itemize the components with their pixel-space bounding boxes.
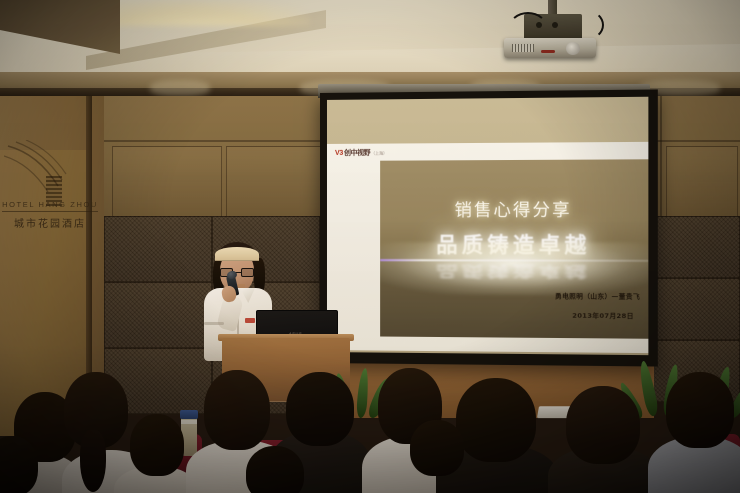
bottle-cap [180, 410, 198, 419]
audience-head [666, 372, 734, 448]
audience-head [456, 378, 536, 462]
wood-panel-inset [666, 146, 738, 218]
audience-head [286, 372, 354, 446]
glasses-lens [241, 268, 254, 277]
audience-head [410, 420, 464, 476]
projector-cable [570, 10, 604, 40]
powerpoint-canvas: V3 创中视野 （上海） 销售心得分享 品质铸造卓越 品质铸造卓越 勇电照明（山… [327, 142, 648, 353]
slide-subtitle-reflection: 品质铸造卓越 [380, 260, 648, 282]
audience-head [246, 446, 304, 493]
hotel-sign-rule [2, 211, 98, 212]
audience-head [204, 370, 270, 450]
hotel-sign-english: HOTEL HANG ZHOU [2, 200, 98, 209]
slide-title: 销售心得分享 [380, 195, 648, 221]
projector-lens-icon [566, 42, 580, 55]
slide-date: 2013年07月28日 [572, 310, 633, 321]
wood-panel-inset [112, 146, 222, 218]
projector-red-cable [541, 50, 555, 53]
slide-corner-logo: V3 创中视野 （上海） [335, 148, 387, 158]
slide-byline: 勇电照明（山东）—董贵飞 [555, 290, 640, 301]
hotel-logo-swoosh-icon [4, 140, 80, 202]
projection-screen: V3 创中视野 （上海） 销售心得分享 品质铸造卓越 品质铸造卓越 勇电照明（山… [320, 89, 658, 366]
logo-v3-mark: V3 [335, 150, 343, 157]
beam-stain [150, 80, 210, 96]
bottle-label-band [181, 420, 197, 424]
shirt-sleeve-edge [204, 322, 224, 325]
conference-room-photo: HOTEL HANG ZHOU 城市花园酒店 V3 创中视野 （上海） 销 [0, 0, 740, 493]
bracket-hole [552, 22, 558, 28]
audience-head [130, 414, 184, 476]
presenter-headband [215, 247, 259, 261]
wood-panel-seam [660, 96, 662, 218]
shirt-company-logo [245, 318, 255, 323]
logo-company-name: 创中视野 [344, 148, 370, 158]
logo-region: （上海） [371, 151, 387, 157]
screen-surface: V3 创中视野 （上海） 销售心得分享 品质铸造卓越 品质铸造卓越 勇电照明（山… [327, 97, 648, 355]
audience-head [566, 386, 640, 464]
audience-ponytail [80, 430, 106, 492]
hotel-sign-chinese: 城市花园酒店 [2, 215, 98, 230]
projector-vent [512, 44, 534, 52]
slide-photo-background: 销售心得分享 品质铸造卓越 品质铸造卓越 勇电照明（山东）—董贵飞 2013年0… [380, 159, 648, 338]
acoustic-panel [652, 278, 740, 340]
acoustic-panel [652, 216, 740, 278]
hotel-sign: HOTEL HANG ZHOU 城市花园酒店 [2, 200, 98, 230]
